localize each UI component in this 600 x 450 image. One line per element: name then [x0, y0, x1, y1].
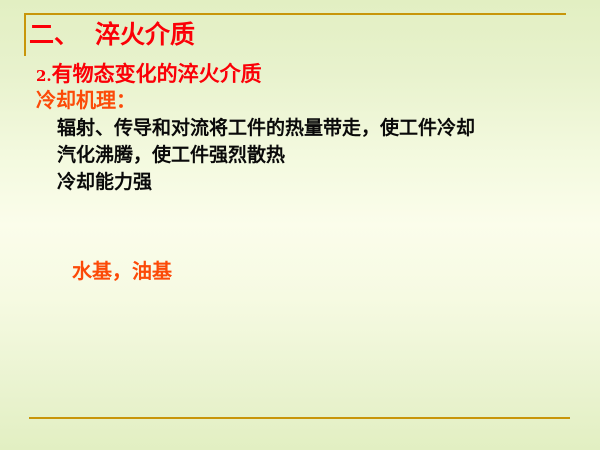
subheading-number: 2. [36, 67, 52, 85]
slide-title-prefix: 二、 [29, 20, 79, 49]
subheading-text: 有物态变化的淬火介质 [52, 62, 262, 86]
slide-canvas: 二、淬火介质 2.有物态变化的淬火介质 冷却机理： 辐射、传导和对流将工件的热量… [0, 0, 600, 450]
mechanism-label: 冷却机理： [36, 88, 136, 113]
slide-title-main: 淬火介质 [95, 20, 195, 49]
body-text-block: 辐射、传导和对流将工件的热量带走，使工件冷却 汽化沸腾，使工件强烈散热 冷却能力… [57, 115, 475, 196]
title-left-vertical-rule [24, 13, 26, 56]
body-line-2: 汽化沸腾，使工件强烈散热 [57, 142, 475, 169]
body-line-3: 冷却能力强 [57, 169, 475, 196]
emphasis-text: 水基，油基 [72, 259, 172, 284]
top-horizontal-rule [24, 13, 566, 15]
slide-title: 二、淬火介质 [29, 19, 195, 50]
body-line-1: 辐射、传导和对流将工件的热量带走，使工件冷却 [57, 115, 475, 142]
bottom-horizontal-rule [29, 417, 570, 419]
subheading: 2.有物态变化的淬火介质 [36, 62, 262, 89]
